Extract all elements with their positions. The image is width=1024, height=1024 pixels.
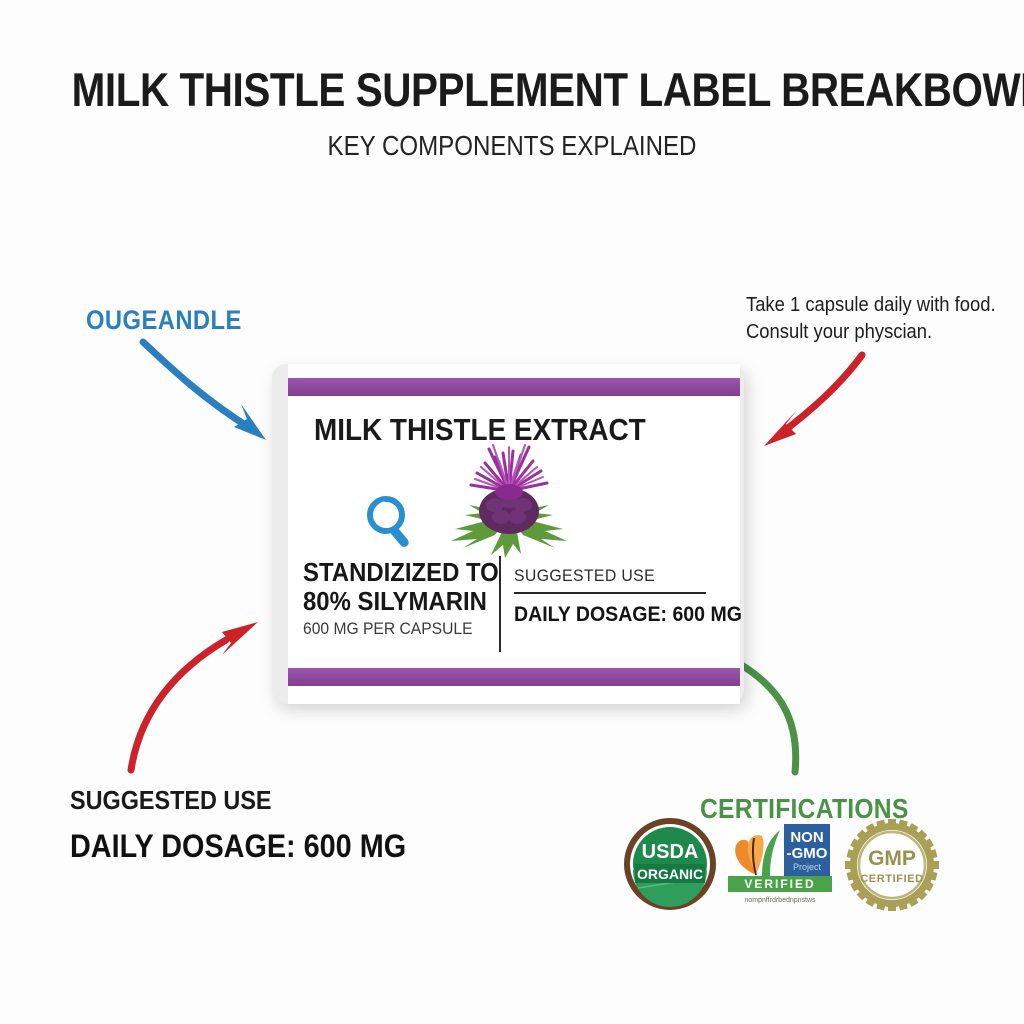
red-arrow-pointer-bottom [131, 622, 258, 770]
non-gmo-project-verified-badge: NON -GMO Project VERIFIED nompnffrdrbedn… [728, 820, 832, 908]
label-bottom-band [288, 668, 740, 686]
page-subtitle: KEY COMPONENTS EXPLAINED [72, 130, 953, 162]
bottom-left-dosage: DAILY DOSAGE: 600 MG [70, 828, 406, 865]
label-top-band [288, 378, 740, 396]
bottom-left-heading: SUGGESTED USE [70, 785, 406, 816]
suggested-use-block: SUGGESTED USE DAILY DOSAGE: 600 MG [514, 566, 714, 627]
daily-dosage-value: DAILY DOSAGE: 600 MG [514, 603, 700, 627]
callout-note-line-2: Consult your physcian. [746, 319, 996, 346]
usda-organic-badge: USDA ORGANIC [624, 818, 716, 910]
certification-badges: USDA ORGANIC NON -GMO Project VERIFIED n… [618, 814, 948, 918]
gmp-certified-badge: GMP CERTIFIED [844, 818, 940, 912]
verified-text: VERIFIED [744, 877, 815, 891]
magnifier-icon [362, 492, 422, 554]
bottom-left-callout: SUGGESTED USE DAILY DOSAGE: 600 MG [70, 785, 443, 865]
page-title: MILK THISTLE SUPPLEMENT LABEL BREAKBOWN [72, 62, 953, 117]
infographic-canvas: MILK THISTLE SUPPLEMENT LABEL BREAKBOWN … [0, 0, 1024, 1024]
gmp-text: GMP [868, 847, 916, 870]
usda-text: USDA [642, 841, 699, 863]
callout-note-line-1: Take 1 capsule daily with food. [746, 292, 996, 319]
potency-line-2: 80% SILYMARIN [303, 587, 478, 616]
potency-line-3: 600 MG PER CAPSULE [303, 616, 478, 641]
label-vertical-divider [499, 556, 501, 652]
blue-arrow-pointer [143, 342, 266, 440]
certified-text: CERTIFIED [860, 873, 923, 885]
gmo-text: -GMO [787, 845, 828, 862]
milk-thistle-illustration [447, 443, 571, 558]
suggested-use-heading: SUGGESTED USE [514, 566, 700, 586]
callout-label-blue: OUGEANDLE [86, 305, 242, 336]
organic-text: ORGANIC [637, 866, 703, 882]
suggested-use-rule [514, 592, 706, 594]
red-arrow-pointer-top [764, 355, 862, 446]
nongmo-caption: nompnffrdrbednpnstws [744, 897, 816, 904]
potency-block: STANDIZIZED TO 80% SILYMARIN 600 MG PER … [303, 558, 493, 641]
non-text: NON [790, 829, 823, 846]
project-text: Project [793, 862, 822, 872]
callout-note-top-right: Take 1 capsule daily with food. Consult … [746, 292, 996, 346]
potency-line-1: STANDIZIZED TO [303, 558, 478, 587]
